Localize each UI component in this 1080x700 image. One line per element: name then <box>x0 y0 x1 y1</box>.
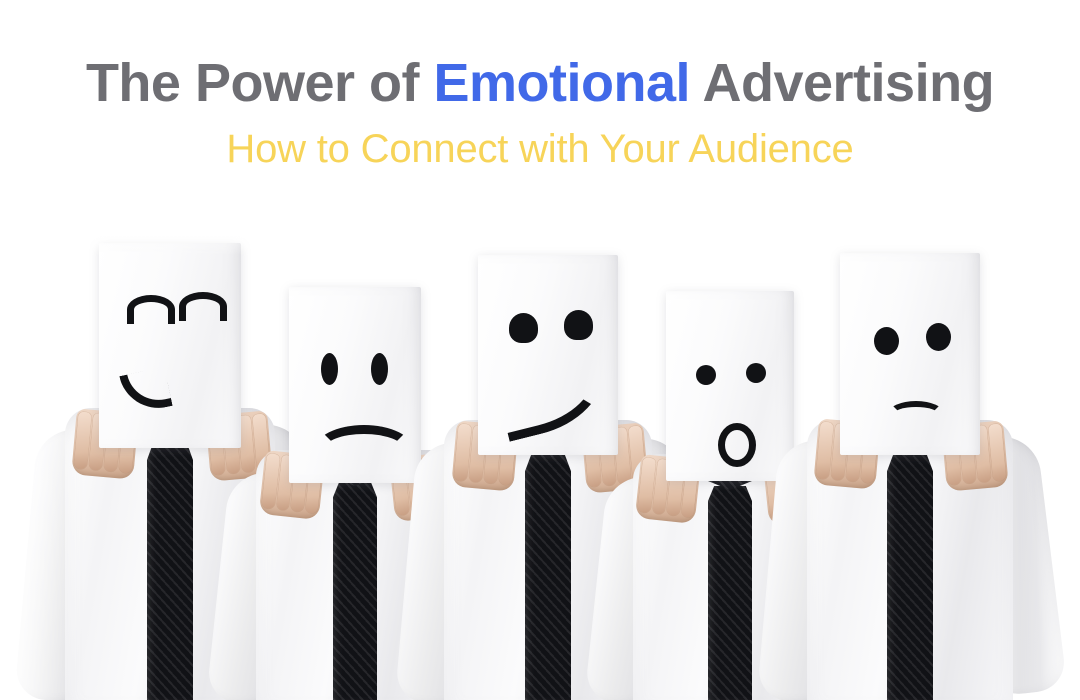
paper-sheet-5 <box>840 253 980 455</box>
necktie <box>147 442 193 700</box>
surprised-face-icon-mouth <box>718 423 756 467</box>
necktie <box>708 486 752 700</box>
banner-stage: The Power of Emotional Advertising How t… <box>0 0 1080 700</box>
page-title: The Power of Emotional Advertising <box>0 0 1080 110</box>
finger <box>988 424 1006 482</box>
person-5 <box>760 225 1060 700</box>
sad-face-icon-eye-right <box>371 353 388 385</box>
necktie <box>525 454 571 700</box>
heading-block: The Power of Emotional Advertising How t… <box>0 0 1080 169</box>
displeased-face-icon-eye-right <box>926 323 951 351</box>
surprised-face-icon-eye-left <box>696 365 716 385</box>
title-accent-word: Emotional <box>433 53 690 113</box>
necktie <box>887 454 933 700</box>
content-face-icon-mouth <box>119 367 172 416</box>
necktie <box>333 482 377 700</box>
sad-face-icon-eye-left <box>321 353 338 385</box>
title-segment-1: The Power of <box>86 53 434 113</box>
content-face-icon-eye-left <box>127 295 175 324</box>
displeased-face-icon-eye-left <box>874 327 899 355</box>
title-segment-2: Advertising <box>690 53 994 113</box>
happy-face-icon-eye-left <box>509 313 538 343</box>
displeased-face-icon-mouth <box>888 401 944 427</box>
page-subtitle: How to Connect with Your Audience <box>0 110 1080 169</box>
people-photo <box>0 225 1080 700</box>
